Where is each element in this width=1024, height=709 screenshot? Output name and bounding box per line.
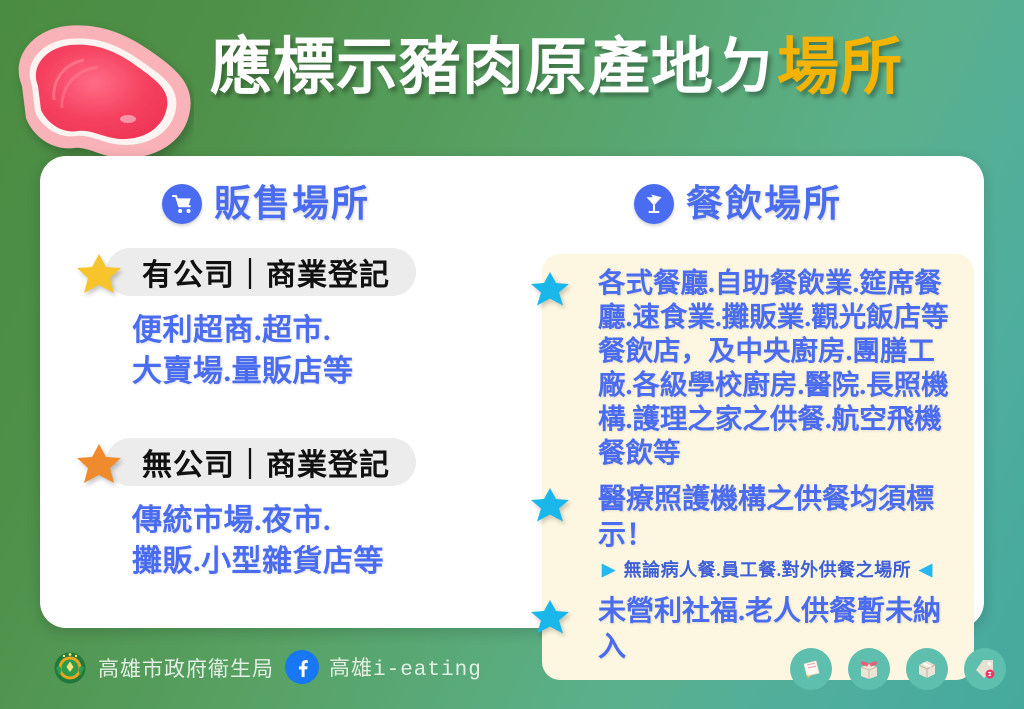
section-retail-venues: 販售場所 有公司｜商業登記 便利超商.超市. 大賣場.量販店等 無公司｜商業登記…: [40, 156, 492, 628]
shopping-cart-icon: [162, 184, 202, 224]
open-box-icon: [848, 648, 890, 690]
dining-bullet-1-text: 各式餐廳.自助餐飲業.筵席餐廳.速食業.攤販業.觀光飯店等餐飲店，及中央廚房.團…: [598, 266, 960, 470]
label-paper-icon: [790, 648, 832, 690]
retail-group-registered: 有公司｜商業登記: [76, 248, 492, 296]
dining-content-panel: 各式餐廳.自助餐飲業.筵席餐廳.速食業.攤販業.觀光飯店等餐飲店，及中央廚房.團…: [542, 254, 974, 680]
dining-bullet-2: 醫療照護機構之供餐均須標示！ ▶ 無論病人餐.員工餐.對外供餐之場所 ◀: [556, 482, 960, 582]
page-title-main: 應標示豬肉原產地ㄉ: [210, 33, 777, 102]
footer-decor-icons: [790, 648, 1006, 690]
retail-section-title: 販售場所: [214, 182, 370, 226]
facebook-icon[interactable]: [285, 650, 319, 684]
retail-registered-detail: 便利超商.超市. 大賣場.量販店等: [132, 310, 492, 392]
footer-facebook-group[interactable]: 高雄i-eating: [285, 650, 482, 684]
retail-unregistered-detail-line2: 攤販.小型雜貨店等: [132, 541, 492, 582]
retail-section-header: 販售場所: [40, 182, 492, 226]
retail-unregistered-detail: 傳統市場.夜市. 攤販.小型雜貨店等: [132, 500, 492, 582]
page-title-accent: 場所: [777, 33, 903, 102]
retail-unregistered-pill: 無公司｜商業登記: [106, 438, 416, 486]
cyan-star-icon: [530, 598, 570, 636]
triangle-right-icon: ▶: [602, 561, 616, 578]
retail-registered-detail-line1: 便利超商.超市.: [132, 310, 492, 351]
retail-unregistered-detail-line1: 傳統市場.夜市.: [132, 500, 492, 541]
yellow-star-icon: [76, 252, 122, 296]
dining-bullet-1: 各式餐廳.自助餐飲業.筵席餐廳.速食業.攤販業.觀光飯店等餐飲店，及中央廚房.團…: [556, 266, 960, 470]
dining-bullet-2-note-text: 無論病人餐.員工餐.對外供餐之場所: [624, 556, 912, 582]
dining-bullet-2-note: ▶ 無論病人餐.員工餐.對外供餐之場所 ◀: [602, 556, 960, 582]
price-tag-icon: [964, 648, 1006, 690]
closed-box-icon: [906, 648, 948, 690]
pork-cut-illustration: [4, 14, 194, 179]
kaohsiung-government-emblem: [52, 650, 88, 686]
footer-org-group: 高雄市政府衛生局: [52, 650, 274, 686]
triangle-left-icon: ◀: [919, 561, 933, 578]
section-dining-venues: 餐飲場所 各式餐廳.自助餐飲業.筵席餐廳.速食業.攤販業.觀光飯店等餐飲店，及中…: [492, 156, 984, 628]
retail-registered-detail-line2: 大賣場.量販店等: [132, 351, 492, 392]
page-title: 應標示豬肉原產地ㄉ場所: [210, 28, 1000, 108]
dining-section-header: 餐飲場所: [492, 182, 984, 226]
cyan-star-icon: [530, 486, 570, 524]
page-header: 應標示豬肉原產地ㄉ場所: [0, 0, 1024, 155]
cocktail-glass-icon: [634, 184, 674, 224]
retail-registered-pill: 有公司｜商業登記: [106, 248, 416, 296]
content-card: 販售場所 有公司｜商業登記 便利超商.超市. 大賣場.量販店等 無公司｜商業登記…: [40, 156, 984, 628]
footer-facebook-name[interactable]: 高雄i-eating: [329, 652, 482, 682]
footer-org-name: 高雄市政府衛生局: [98, 653, 274, 683]
page-footer: 高雄市政府衛生局 高雄i-eating: [0, 640, 1024, 709]
dining-bullet-2-text: 醫療照護機構之供餐均須標示！: [598, 482, 960, 554]
cyan-star-icon: [530, 270, 570, 308]
orange-star-icon: [76, 442, 122, 486]
retail-group-unregistered: 無公司｜商業登記: [76, 438, 492, 486]
dining-section-title: 餐飲場所: [686, 182, 842, 226]
